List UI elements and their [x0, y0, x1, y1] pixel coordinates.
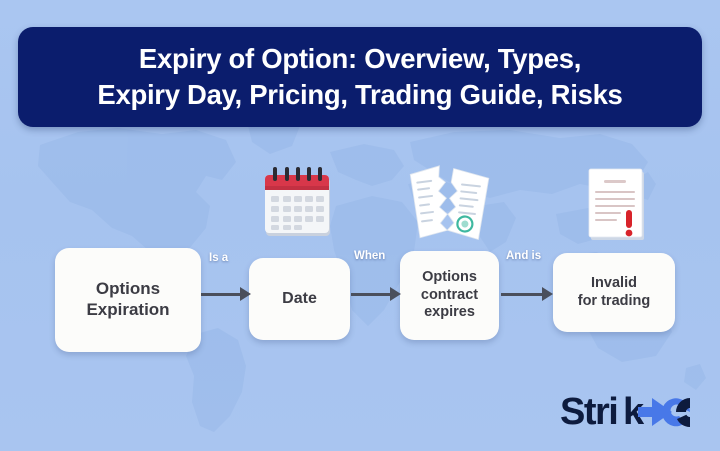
- arrow-connector-when: [351, 287, 401, 301]
- flow-box-label: Options Expiration: [86, 279, 169, 320]
- connector-label-when: When: [354, 250, 385, 262]
- invalid-document-icon: [585, 166, 647, 242]
- arrow-shaft: [501, 293, 542, 296]
- flow-box-label: Options contract expires: [421, 269, 478, 322]
- torn-contract-icon: [404, 164, 496, 242]
- calendar-icon: [262, 166, 334, 240]
- infographic-canvas: Expiry of Option: Overview, Types, Expir…: [0, 0, 720, 451]
- connector-label-and-is: And is: [506, 250, 541, 262]
- flow-box-invalid-for-trading[interactable]: Invalid for trading: [553, 253, 675, 332]
- arrow-head-icon: [240, 287, 251, 301]
- arrow-head-icon: [390, 287, 401, 301]
- flow-box-options-contract-expires[interactable]: Options contract expires: [400, 251, 499, 340]
- svg-text:Stri: Stri: [560, 391, 617, 433]
- flow-box-options-expiration[interactable]: Options Expiration: [55, 248, 201, 352]
- title-banner: Expiry of Option: Overview, Types, Expir…: [18, 27, 702, 127]
- flow-box-label: Date: [282, 289, 317, 309]
- arrow-connector-and-is: [501, 287, 553, 301]
- page-title: Expiry of Option: Overview, Types, Expir…: [87, 41, 632, 113]
- connector-label-is-a: Is a: [209, 252, 228, 264]
- arrow-head-icon: [542, 287, 553, 301]
- arrow-connector-is-a: [201, 287, 251, 301]
- flow-box-date[interactable]: Date: [249, 258, 350, 340]
- strike-logo: Stri k: [560, 388, 702, 436]
- flow-box-label: Invalid for trading: [578, 275, 651, 310]
- arrow-shaft: [201, 293, 240, 296]
- arrow-shaft: [351, 293, 390, 296]
